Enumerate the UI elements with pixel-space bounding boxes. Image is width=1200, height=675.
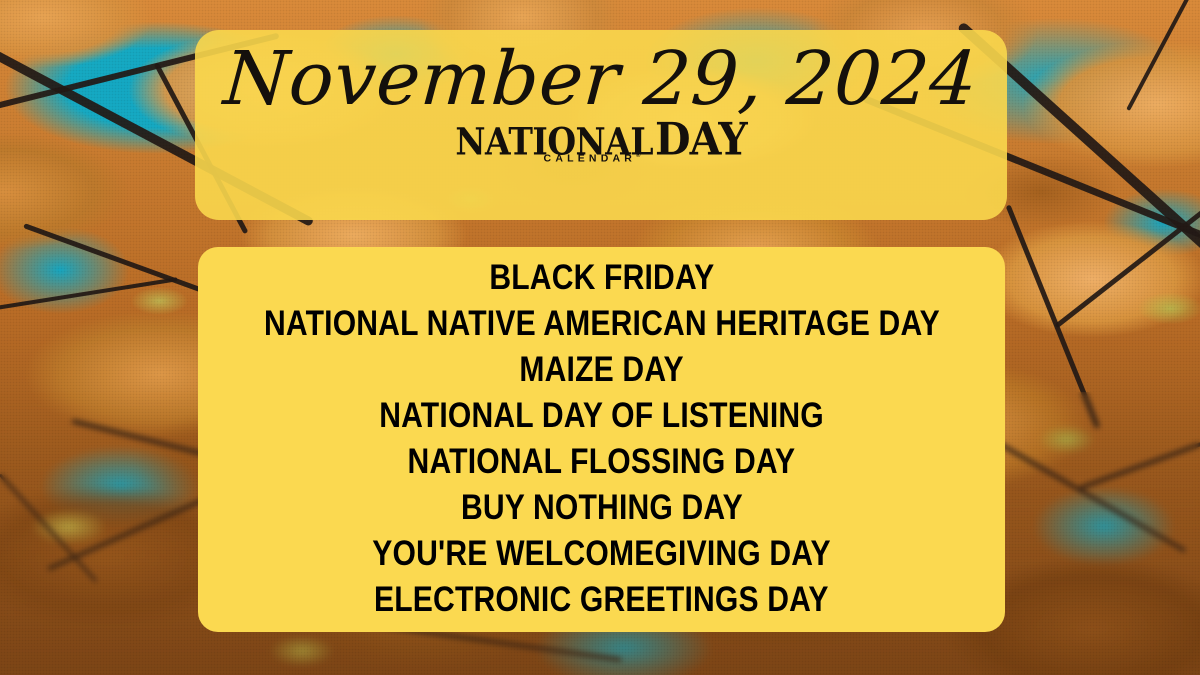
national-day-calendar-logo: NATIONAL DAY CALENDAR® <box>455 119 746 164</box>
list-item: NATIONAL NATIVE AMERICAN HERITAGE DAY <box>264 301 940 347</box>
list-item: YOU'RE WELCOMEGIVING DAY <box>372 531 830 577</box>
registered-trademark-icon: ® <box>636 153 640 159</box>
logo-day-text: DAY <box>655 117 747 162</box>
national-day-calendar-graphic: November 29, 2024 NATIONAL DAY CALENDAR®… <box>0 0 1200 675</box>
logo-calendar-subtitle: CALENDAR® <box>544 153 641 164</box>
header-panel: November 29, 2024 NATIONAL DAY CALENDAR® <box>195 30 1007 220</box>
national-days-list-panel: BLACK FRIDAY NATIONAL NATIVE AMERICAN HE… <box>198 247 1005 632</box>
list-item: ELECTRONIC GREETINGS DAY <box>374 577 829 623</box>
list-item: BUY NOTHING DAY <box>461 485 743 531</box>
list-item: NATIONAL DAY OF LISTENING <box>379 393 824 439</box>
list-item: MAIZE DAY <box>519 347 683 393</box>
date-heading: November 29, 2024 <box>221 36 980 123</box>
list-item: BLACK FRIDAY <box>489 255 714 301</box>
list-item: NATIONAL FLOSSING DAY <box>408 439 796 485</box>
logo-calendar-text: CALENDAR <box>544 153 637 165</box>
